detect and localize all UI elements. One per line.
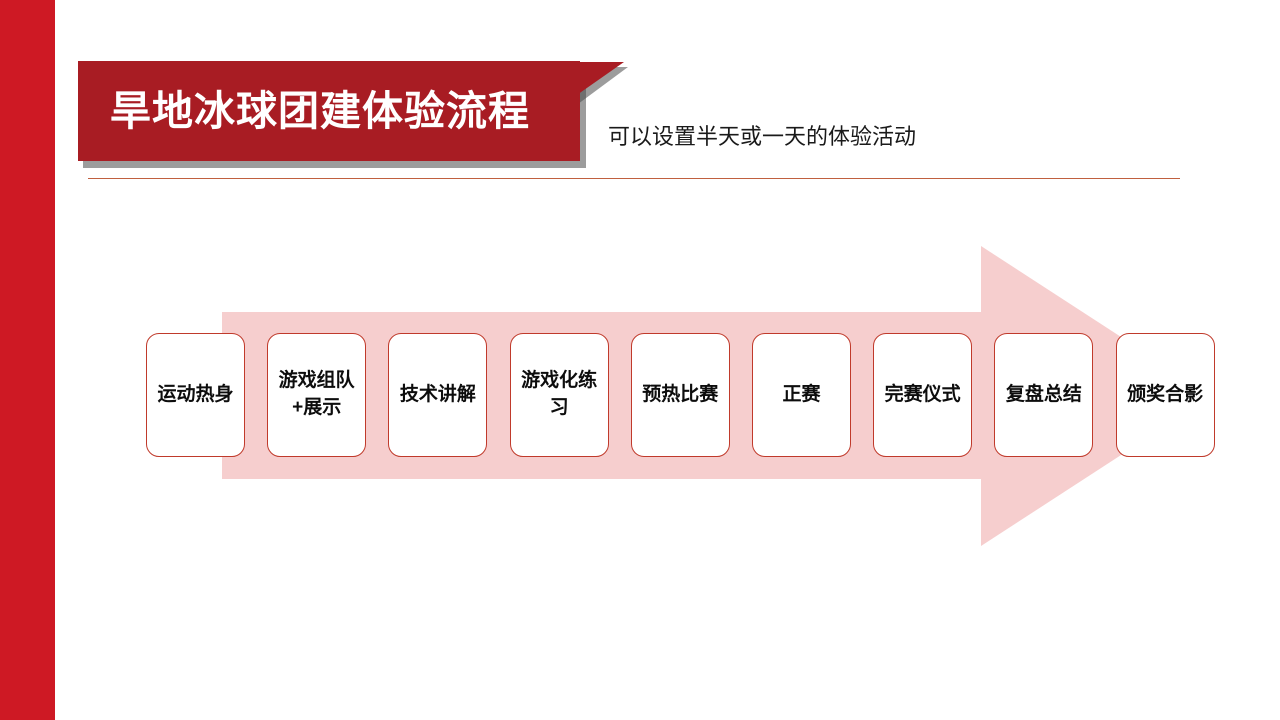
page-subtitle: 可以设置半天或一天的体验活动 xyxy=(608,124,916,150)
flow-step-label: 正赛 xyxy=(782,382,820,409)
flow-step-2[interactable]: 游戏组队+展示 xyxy=(267,333,366,457)
flow-step-label: 完赛仪式 xyxy=(885,382,961,409)
flow-step-label: 复盘总结 xyxy=(1006,382,1082,409)
flow-step-5[interactable]: 预热比赛 xyxy=(631,333,730,457)
header-divider xyxy=(88,178,1180,179)
banner-body: 旱地冰球团建体验流程 xyxy=(78,61,580,161)
flow-step-label: 运动热身 xyxy=(157,382,233,409)
title-banner: 旱地冰球团建体验流程 xyxy=(78,61,638,165)
flow-step-list: 运动热身游戏组队+展示技术讲解游戏化练习预热比赛正赛完赛仪式复盘总结颁奖合影 xyxy=(146,333,1216,457)
flow-step-9[interactable]: 颁奖合影 xyxy=(1116,333,1215,457)
flow-step-label: 游戏组队+展示 xyxy=(275,368,358,422)
flow-step-8[interactable]: 复盘总结 xyxy=(994,333,1093,457)
left-accent-rail xyxy=(0,0,55,720)
flow-step-6[interactable]: 正赛 xyxy=(752,333,851,457)
flow-step-label: 技术讲解 xyxy=(400,382,476,409)
flow-step-label: 预热比赛 xyxy=(642,382,718,409)
flow-step-1[interactable]: 运动热身 xyxy=(146,333,245,457)
flow-step-label: 颁奖合影 xyxy=(1127,382,1203,409)
flow-step-label: 游戏化练习 xyxy=(518,368,601,422)
flow-step-7[interactable]: 完赛仪式 xyxy=(873,333,972,457)
flow-step-3[interactable]: 技术讲解 xyxy=(388,333,487,457)
banner-ribbon-tail xyxy=(574,62,624,97)
flow-step-4[interactable]: 游戏化练习 xyxy=(510,333,609,457)
page-title: 旱地冰球团建体验流程 xyxy=(110,91,530,132)
